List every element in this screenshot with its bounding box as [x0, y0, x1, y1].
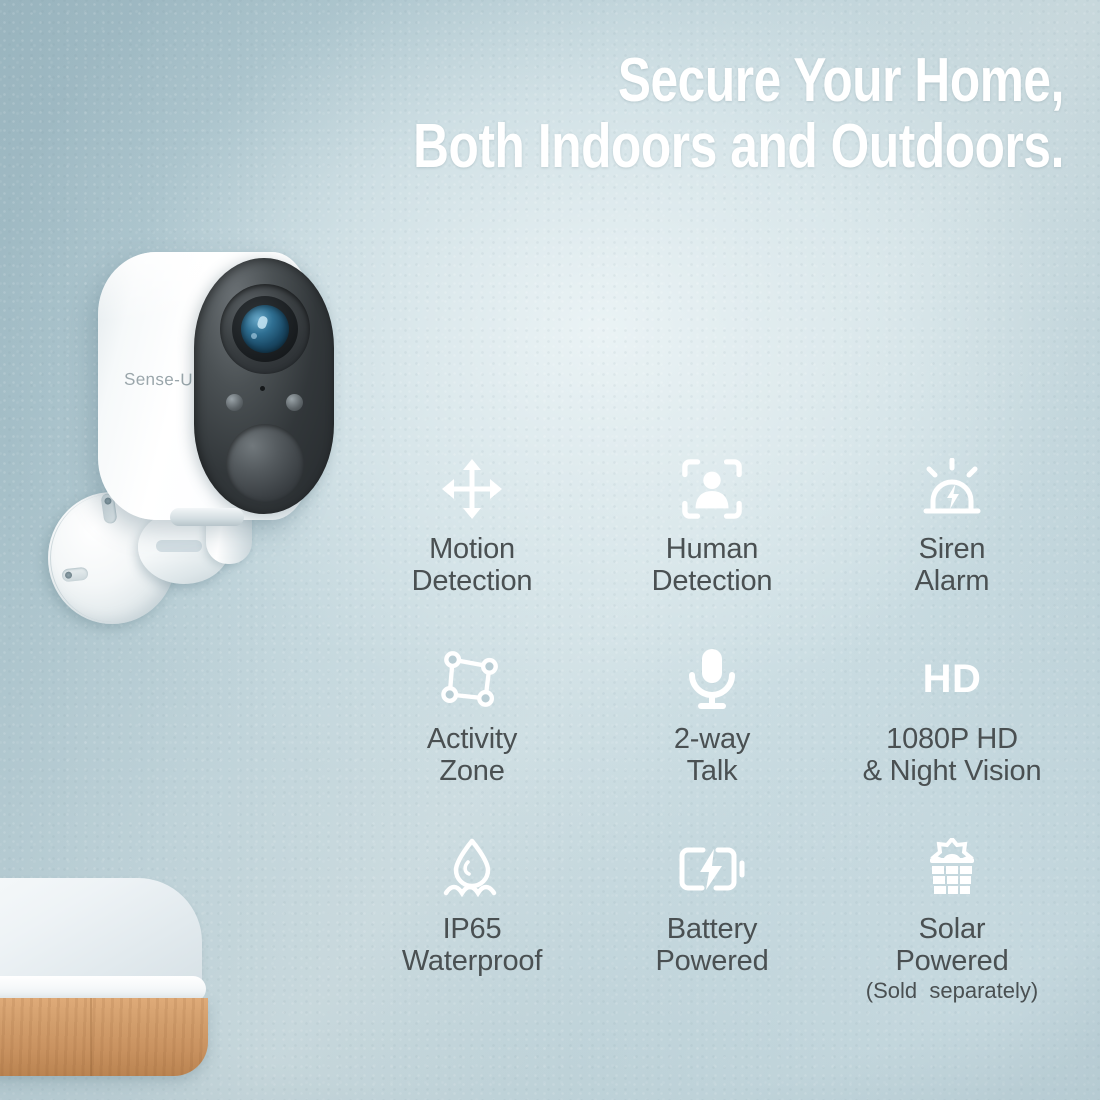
camera-body: Sense-U	[98, 252, 310, 520]
camera-lens-barrel	[232, 296, 298, 362]
feature-label: Human Detection	[652, 534, 773, 598]
camera-microphone-hole	[260, 386, 265, 391]
brand-label: Sense-U	[124, 370, 193, 391]
feature-label: Solar Powered	[895, 914, 1008, 978]
feature-label: Battery Powered	[655, 914, 768, 978]
feature-label: Motion Detection	[412, 534, 533, 598]
crib-mattress-top	[0, 878, 202, 990]
camera-lens-housing	[220, 284, 310, 374]
feature-label: 2-way Talk	[674, 724, 750, 788]
lens-glint-secondary	[251, 333, 257, 339]
ir-sensor-left	[226, 394, 243, 411]
crib-wood-frame	[0, 998, 208, 1076]
feature-human-detection: Human Detection	[592, 452, 832, 642]
battery-charging-icon	[675, 832, 749, 906]
feature-sublabel: (Sold separately)	[866, 979, 1038, 1004]
mount-screw-bottom	[61, 567, 88, 583]
feature-grid: Motion Detection Human Detection	[352, 452, 1072, 1022]
camera-faceplate	[194, 258, 334, 514]
feature-two-way-talk: 2-way Talk	[592, 642, 832, 832]
hd-text-label: HD	[923, 659, 982, 699]
feature-activity-zone: Activity Zone	[352, 642, 592, 832]
waterproof-droplet-icon	[435, 832, 509, 906]
pir-motion-sensor-dome	[226, 424, 304, 502]
crib-corner	[0, 878, 240, 1100]
camera-product-image: Sense-U	[20, 252, 350, 652]
hd-text-icon: HD	[915, 642, 989, 716]
feature-motion-detection: Motion Detection	[352, 452, 592, 642]
microphone-icon	[675, 642, 749, 716]
ir-sensor-right	[286, 394, 303, 411]
lens-glint-primary	[256, 315, 269, 330]
feature-hd-night-vision: HD 1080P HD & Night Vision	[832, 642, 1072, 832]
feature-solar-powered: Solar Powered (Sold separately)	[832, 832, 1072, 1022]
siren-alarm-icon	[915, 452, 989, 526]
activity-zone-icon	[435, 642, 509, 716]
headline-line-1: Secure Your Home,	[213, 48, 1064, 114]
feature-battery-powered: Battery Powered	[592, 832, 832, 1022]
solar-panel-icon	[915, 832, 989, 906]
feature-ip65-waterproof: IP65 Waterproof	[352, 832, 592, 1022]
feature-label: Siren Alarm	[915, 534, 990, 598]
feature-label: IP65 Waterproof	[402, 914, 542, 978]
camera-mount-collar	[170, 508, 244, 526]
human-detection-icon	[675, 452, 749, 526]
promo-graphic: Secure Your Home, Both Indoors and Outdo…	[0, 0, 1100, 1100]
feature-label: 1080P HD & Night Vision	[863, 724, 1042, 788]
camera-lens-glass	[241, 305, 289, 353]
move-arrows-icon	[435, 452, 509, 526]
headline: Secure Your Home, Both Indoors and Outdo…	[213, 48, 1064, 179]
feature-label: Activity Zone	[427, 724, 517, 788]
feature-siren-alarm: Siren Alarm	[832, 452, 1072, 642]
headline-line-2: Both Indoors and Outdoors.	[213, 114, 1064, 180]
